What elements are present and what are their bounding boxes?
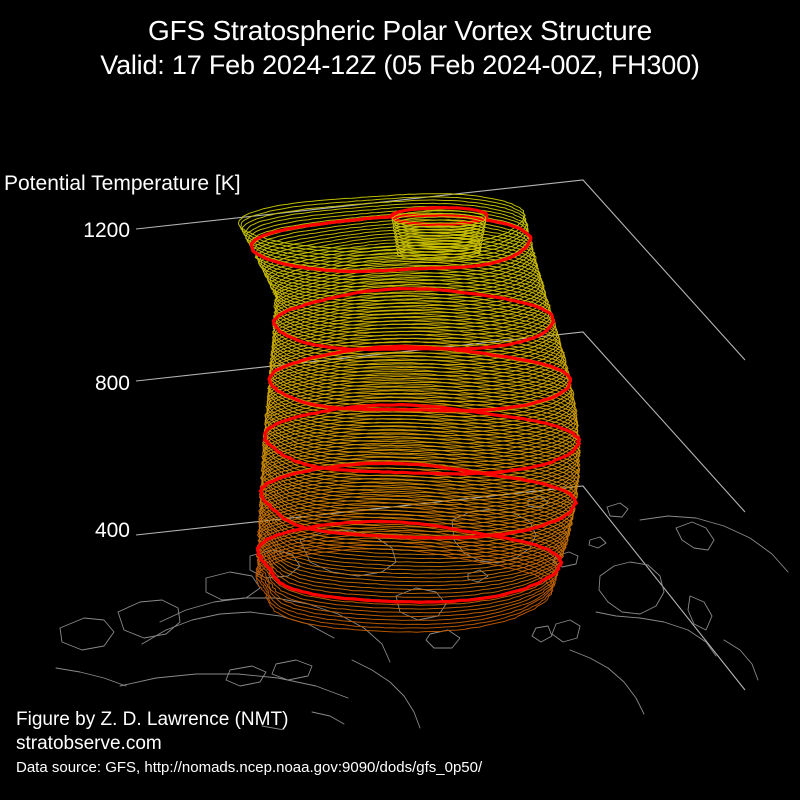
vortex-contour-stack	[239, 194, 581, 633]
z-axis-label: Potential Temperature [K]	[4, 172, 241, 196]
basemap-coastlines	[56, 496, 788, 738]
figure-canvas: GFS Stratospheric Polar Vortex Structure…	[0, 0, 800, 800]
z-tick-label-400: 400	[20, 519, 130, 543]
vortex-3d-plot	[0, 0, 800, 800]
z-tick-label-800: 800	[20, 372, 130, 396]
z-tick-label-1200: 1200	[20, 219, 130, 243]
